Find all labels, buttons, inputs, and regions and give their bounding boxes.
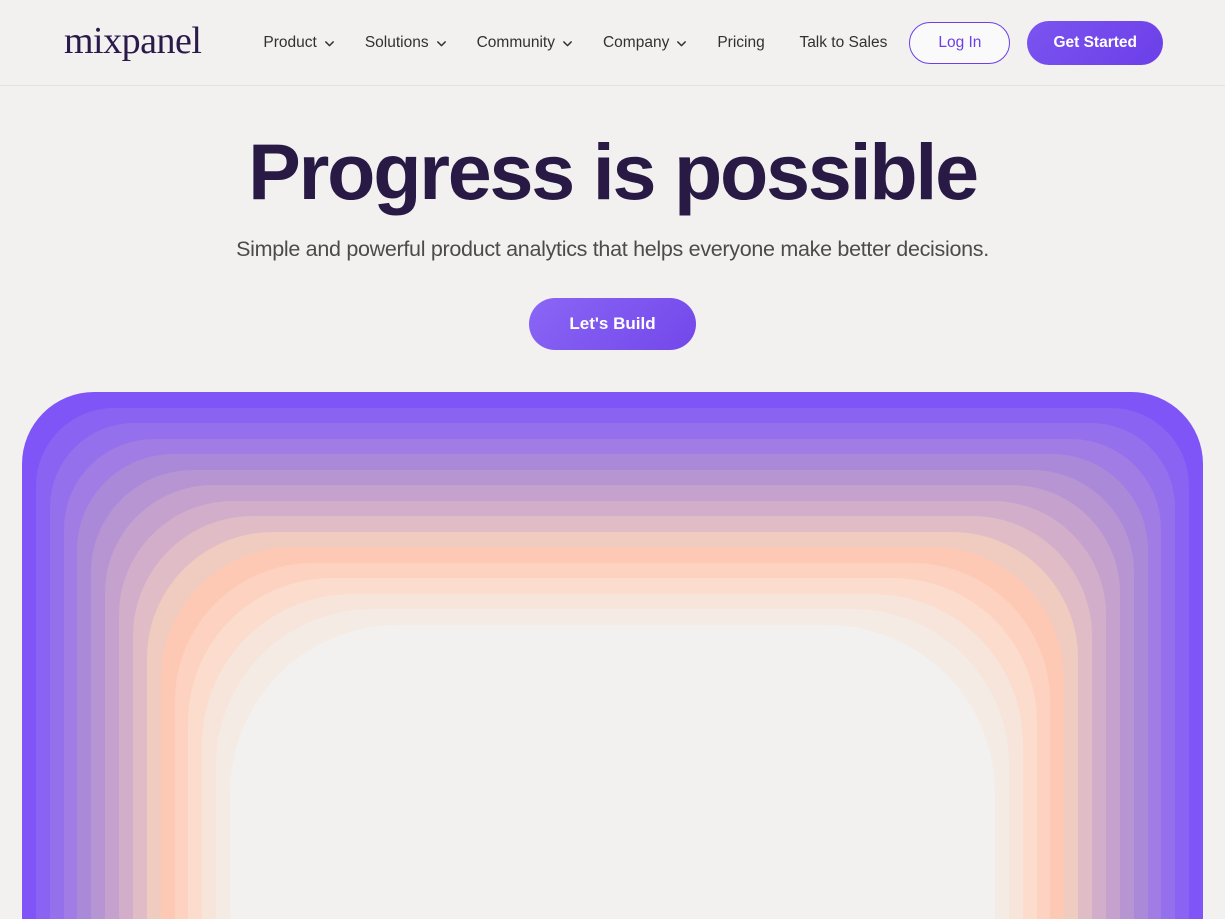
nav-item-label: Pricing — [717, 34, 764, 52]
nav-item-solutions[interactable]: Solutions — [365, 34, 447, 52]
inner-panel — [230, 625, 995, 919]
chevron-down-icon — [562, 38, 573, 49]
mixpanel-logo[interactable]: mixpanel — [64, 22, 201, 60]
hero-subtitle: Simple and powerful product analytics th… — [0, 237, 1225, 262]
primary-navigation: Product Solutions Community Company Pric — [263, 34, 764, 52]
concentric-rings-graphic — [0, 392, 1225, 919]
nav-item-label: Company — [603, 34, 669, 52]
chevron-down-icon — [324, 38, 335, 49]
header-actions: Talk to Sales Log In Get Started — [799, 21, 1163, 65]
lets-build-button[interactable]: Let's Build — [529, 298, 695, 350]
nav-item-community[interactable]: Community — [477, 34, 573, 52]
chevron-down-icon — [676, 38, 687, 49]
nav-item-label: Product — [263, 34, 316, 52]
site-header: mixpanel Product Solutions Community Com… — [0, 0, 1225, 86]
talk-to-sales-link[interactable]: Talk to Sales — [799, 34, 887, 52]
page-title: Progress is possible — [0, 132, 1225, 211]
nav-item-product[interactable]: Product — [263, 34, 334, 52]
chevron-down-icon — [436, 38, 447, 49]
nav-item-company[interactable]: Company — [603, 34, 687, 52]
hero-section: Progress is possible Simple and powerful… — [0, 87, 1225, 350]
get-started-button[interactable]: Get Started — [1027, 21, 1163, 65]
nav-item-label: Community — [477, 34, 555, 52]
nav-item-pricing[interactable]: Pricing — [717, 34, 764, 52]
nav-item-label: Solutions — [365, 34, 429, 52]
login-button[interactable]: Log In — [909, 22, 1010, 64]
